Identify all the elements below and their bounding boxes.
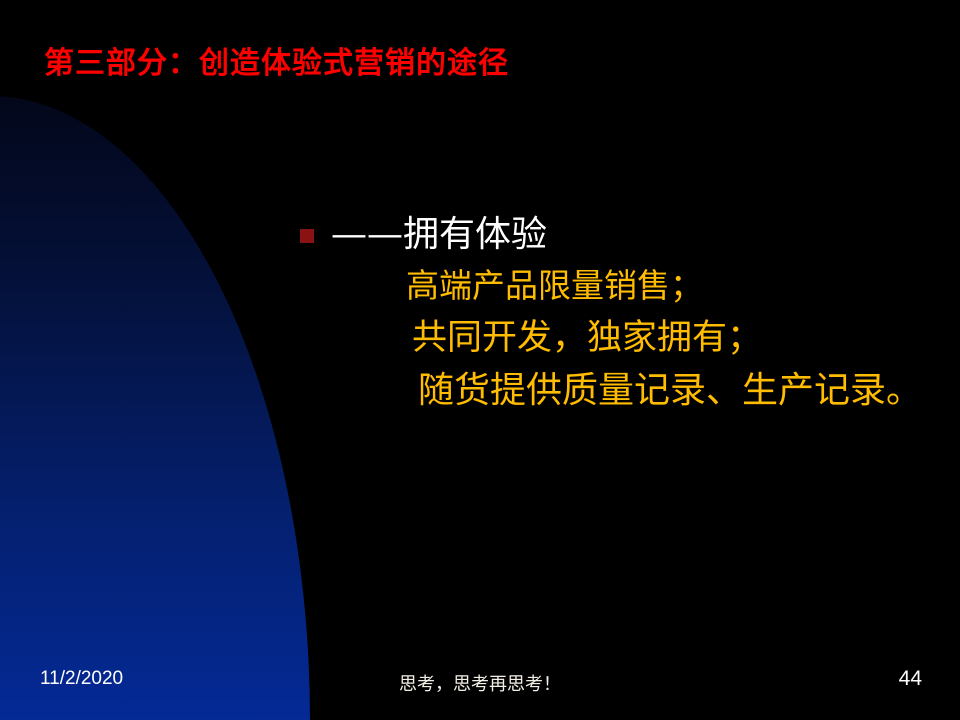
sub-line-2: 共同开发，独家拥有； [412,320,950,357]
sub-line-3: 随货提供质量记录、生产记录。 [418,372,950,410]
sub-line-1: 高端产品限量销售； [406,269,950,304]
square-bullet-icon [300,229,314,243]
bullet-item: ——拥有体验 [300,212,950,257]
page-title: 第三部分：创造体验式营销的途径 [44,38,509,82]
bullet-item-label: ——拥有体验 [331,212,547,257]
footer-center-text: 思考，思考再思考！ [0,670,960,696]
content-block: ——拥有体验 高端产品限量销售； 共同开发，独家拥有； 随货提供质量记录、生产记… [300,212,950,410]
blue-ellipse-decoration [0,96,310,720]
footer-page-number: 44 [899,667,922,691]
slide-canvas: 第三部分：创造体验式营销的途径 ——拥有体验 高端产品限量销售； 共同开发，独家… [0,0,960,720]
